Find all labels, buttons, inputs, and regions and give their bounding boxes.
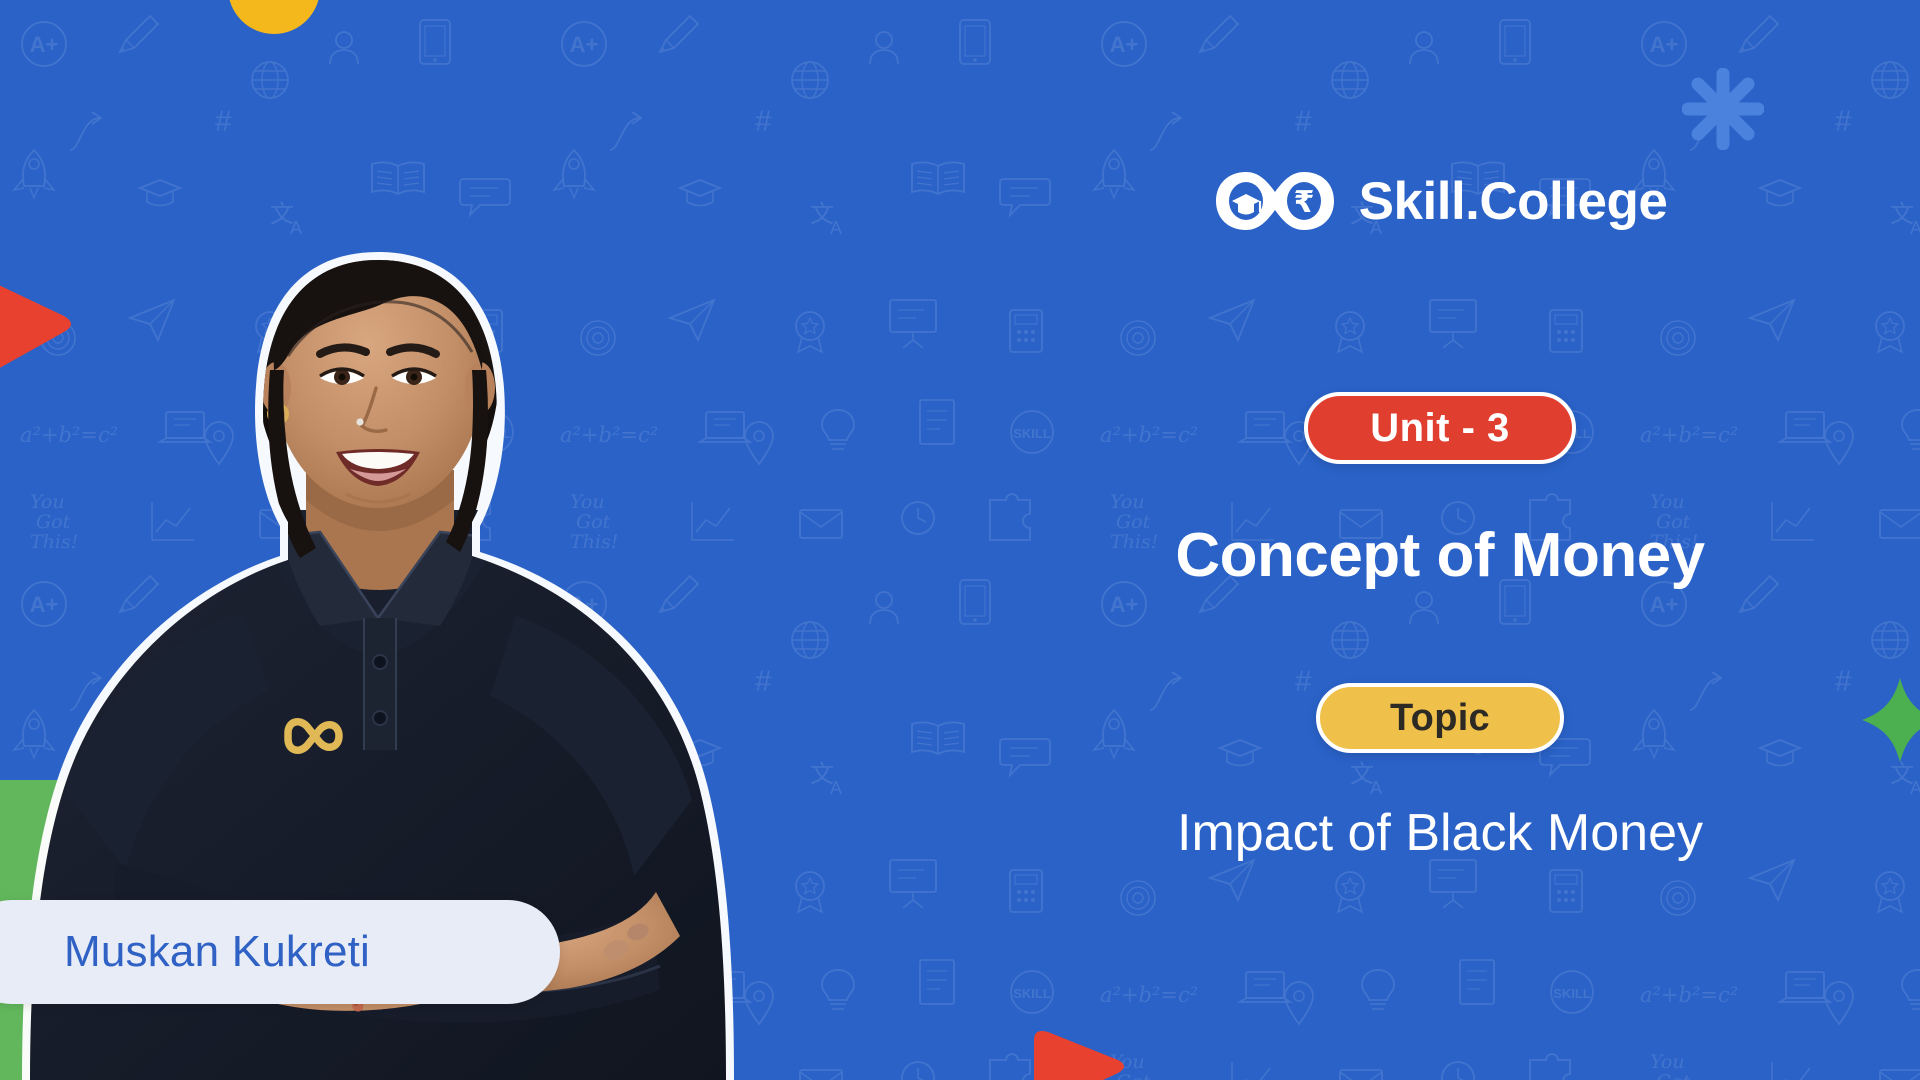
- unit-badge: Unit - 3: [1304, 392, 1576, 464]
- topic-badge-label: Topic: [1390, 697, 1490, 740]
- course-title: Concept of Money: [1175, 520, 1704, 591]
- topic-title: Impact of Black Money: [1177, 803, 1703, 863]
- topic-badge: Topic: [1316, 683, 1564, 753]
- course-title-slide: A+ 文 A: [0, 0, 1920, 1080]
- brand-logo: ₹ Skill.College: [1213, 168, 1668, 234]
- slide-content: ₹ Skill.College Unit - 3 Concept of Mone…: [960, 0, 1920, 1080]
- presenter-name-pill: Muskan Kukreti: [0, 900, 560, 1004]
- infinity-graduation-rupee-icon: ₹: [1213, 168, 1337, 234]
- svg-text:₹: ₹: [1293, 185, 1314, 220]
- yellow-circle-decoration: [228, 0, 320, 34]
- brand-name: Skill.College: [1359, 175, 1668, 228]
- presenter-name: Muskan Kukreti: [64, 927, 370, 977]
- unit-badge-label: Unit - 3: [1370, 406, 1510, 451]
